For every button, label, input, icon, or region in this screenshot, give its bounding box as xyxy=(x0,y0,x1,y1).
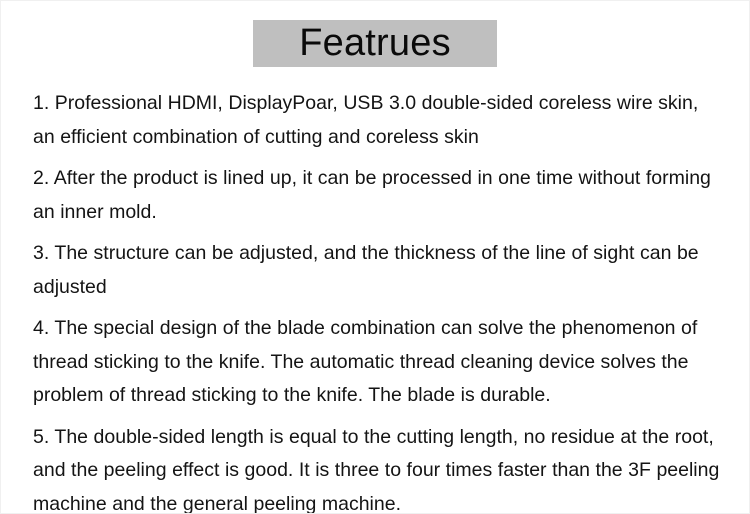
product-features-page: Featrues 1. Professional HDMI, DisplayPo… xyxy=(0,0,750,514)
page-title-container: Featrues xyxy=(1,20,749,67)
list-item: 1. Professional HDMI, DisplayPoar, USB 3… xyxy=(33,87,721,154)
page-title: Featrues xyxy=(253,20,497,67)
features-list: 1. Professional HDMI, DisplayPoar, USB 3… xyxy=(33,87,721,514)
list-item: 2. After the product is lined up, it can… xyxy=(33,162,721,229)
list-item: 3. The structure can be adjusted, and th… xyxy=(33,237,721,304)
list-item: 4. The special design of the blade combi… xyxy=(33,312,721,413)
list-item: 5. The double-sided length is equal to t… xyxy=(33,421,721,514)
